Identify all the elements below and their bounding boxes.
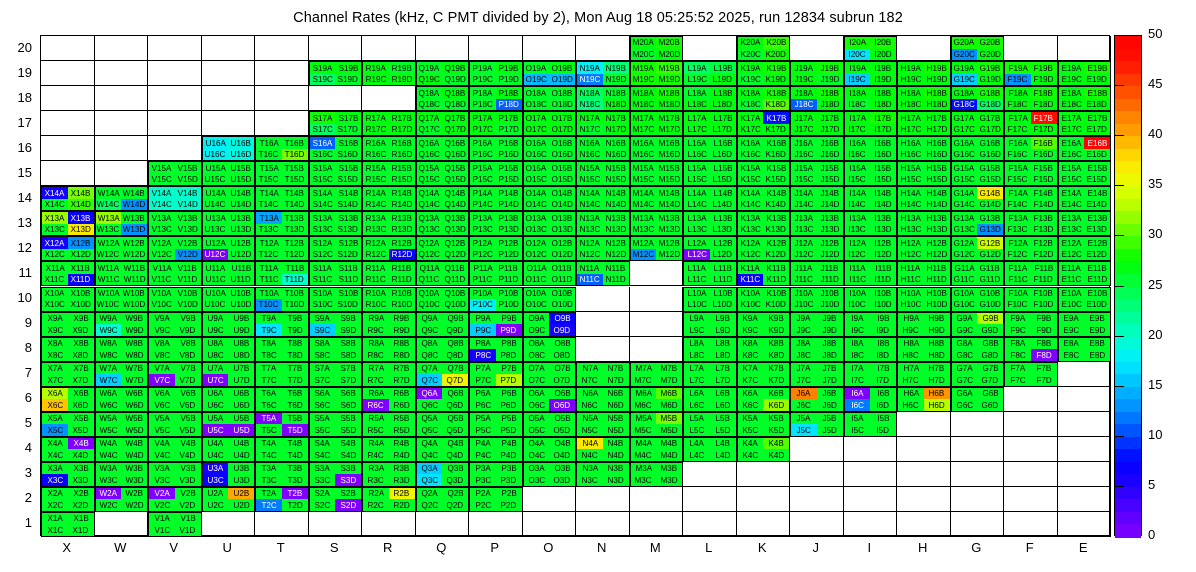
channel-label: K13C — [740, 225, 760, 234]
module-cell: R17AR17BR17CR17D — [362, 111, 416, 136]
channel-cell: G9D — [977, 324, 1003, 336]
channel-label: W11C — [97, 275, 119, 284]
module-cell: R16AR16BR16CR16D — [362, 136, 416, 161]
channel-cell: N12C — [577, 249, 603, 261]
channel-label: Q5C — [421, 426, 438, 435]
channel-cell: K6B — [763, 388, 789, 400]
module-cell: O15AO15BO15CO15D — [523, 161, 577, 186]
channel-cell: E14B — [1084, 187, 1110, 199]
channel-cell: O18D — [549, 99, 575, 111]
channel-label: X1A — [47, 514, 62, 523]
channel-cell: X7B — [68, 363, 94, 375]
page-title: Channel Rates (kHz, C PMT divided by 2),… — [0, 10, 1196, 26]
channel-label: N14B — [606, 189, 626, 198]
module-cell: L11AL11BL11CL11D — [683, 261, 737, 286]
channel-cell: O17C — [524, 124, 550, 136]
channel-cell: S16A — [310, 137, 336, 149]
channel-cell: F14B — [1031, 187, 1057, 199]
channel-label: P12C — [473, 250, 493, 259]
channel-label: W3C — [99, 476, 117, 485]
module-cell: G17AG17BG17CG17D — [951, 111, 1005, 136]
channel-label: H12B — [927, 239, 947, 248]
channel-cell: P12B — [496, 237, 522, 249]
channel-cell: K4D — [763, 449, 789, 461]
channel-label: T15C — [259, 175, 279, 184]
channel-label: S5B — [340, 414, 355, 423]
channel-cell: U15B — [228, 162, 254, 174]
channel-cell: P3B — [496, 463, 522, 475]
channel-cell: V2B — [175, 488, 201, 500]
channel-label: X10A — [45, 289, 65, 298]
channel-cell: K15B — [763, 162, 789, 174]
channel-cell: M6D — [656, 399, 682, 411]
module-cell — [1058, 36, 1112, 61]
channel-cell: P15C — [470, 174, 496, 186]
channel-label: E16B — [1087, 139, 1107, 148]
channel-label: R7C — [368, 376, 384, 385]
channel-label: M12A — [633, 239, 654, 248]
channel-label: U10B — [231, 289, 251, 298]
channel-label: G11D — [980, 275, 1001, 284]
channel-label: H18D — [926, 100, 947, 109]
channel-label: O12C — [526, 250, 547, 259]
module-cell: M3AM3BM3CM3D — [630, 462, 684, 487]
channel-label: F11D — [1034, 275, 1053, 284]
channel-label: I18A — [849, 89, 866, 98]
channel-label: E12C — [1061, 250, 1081, 259]
channel-cell: L15B — [710, 162, 736, 174]
channel-cell: R10D — [389, 299, 415, 311]
channel-cell: U11C — [203, 274, 229, 286]
module-cell — [951, 437, 1005, 462]
channel-label: G11B — [980, 264, 1000, 273]
channel-cell: N18D — [603, 99, 629, 111]
channel-cell: T15C — [256, 174, 282, 186]
channel-label: M6B — [661, 389, 678, 398]
channel-label: M4D — [661, 451, 678, 460]
channel-label: G20B — [980, 38, 1001, 47]
channel-cell: M20B — [656, 37, 682, 49]
channel-label: P14B — [499, 189, 519, 198]
channel-label: X8B — [73, 339, 88, 348]
channel-label: N19B — [606, 64, 626, 73]
channel-label: I10D — [875, 300, 892, 309]
channel-label: I5C — [851, 426, 864, 435]
channel-cell: E19D — [1084, 74, 1110, 86]
module-cell: L18AL18BL18CL18D — [683, 86, 737, 111]
channel-label: X1C — [47, 526, 63, 535]
channel-label: Q12B — [445, 239, 466, 248]
channel-label: U15D — [231, 175, 252, 184]
channel-cell: Q12C — [417, 249, 443, 261]
channel-label: X12B — [71, 239, 91, 248]
channel-label: S4C — [315, 451, 331, 460]
channel-label: X3D — [73, 476, 89, 485]
channel-cell: M20A — [631, 37, 657, 49]
channel-label: X8C — [47, 351, 63, 360]
channel-label: J15B — [820, 164, 838, 173]
channel-label: M16C — [633, 150, 655, 159]
channel-label: L16A — [687, 139, 706, 148]
channel-cell: R4D — [389, 449, 415, 461]
channel-label: O12D — [552, 250, 573, 259]
channel-cell: P6A — [470, 388, 496, 400]
colorbar-segment — [1115, 299, 1141, 312]
channel-label: N18D — [605, 100, 626, 109]
channel-cell: G6C — [952, 399, 978, 411]
module-cell: T13AT13BT13CT13D — [255, 211, 309, 236]
channel-label: G19A — [954, 64, 975, 73]
channel-label: R3A — [368, 464, 384, 473]
colorbar-segment — [1115, 449, 1141, 462]
channel-label: X11C — [45, 275, 65, 284]
y-axis-tick: 13 — [0, 215, 32, 230]
channel-cell: I8A — [845, 338, 871, 350]
channel-cell: S14B — [335, 187, 361, 199]
channel-cell: O17B — [549, 112, 575, 124]
channel-cell: V8D — [175, 349, 201, 361]
channel-cell: O17D — [549, 124, 575, 136]
module-cell: U16AU16BU16CU16D — [202, 136, 256, 161]
module-cell: T8AT8BT8CT8D — [255, 337, 309, 362]
channel-cell: T8A — [256, 338, 282, 350]
channel-cell: Q16A — [417, 137, 443, 149]
channel-label: O6A — [528, 389, 544, 398]
channel-label: W9B — [125, 314, 143, 323]
module-cell: S2AS2BS2CS2D — [309, 487, 363, 512]
channel-cell: U13D — [228, 224, 254, 236]
channel-label: Q9C — [421, 326, 438, 335]
channel-label: N4D — [608, 451, 624, 460]
channel-cell: X12D — [68, 249, 94, 261]
channel-cell: V1C — [149, 524, 175, 536]
channel-cell: K8B — [763, 338, 789, 350]
channel-label: S17B — [338, 114, 358, 123]
channel-cell: P5B — [496, 413, 522, 425]
channel-label: J16C — [794, 150, 813, 159]
channel-cell: Q15D — [442, 174, 468, 186]
channel-cell: H6D — [924, 399, 950, 411]
channel-cell: X4B — [68, 438, 94, 450]
channel-cell: K8D — [763, 349, 789, 361]
channel-cell: E8C — [1059, 349, 1085, 361]
channel-label: M13D — [658, 225, 680, 234]
channel-cell: M15B — [656, 162, 682, 174]
channel-cell: M3A — [631, 463, 657, 475]
channel-cell: K19A — [738, 62, 764, 74]
channel-cell: P7B — [496, 363, 522, 375]
channel-label: X11A — [45, 264, 64, 273]
channel-label: I5A — [851, 414, 863, 423]
channel-cell: V10B — [175, 288, 201, 300]
channel-label: P16B — [499, 139, 519, 148]
channel-label: H6C — [903, 401, 919, 410]
channel-cell: R17D — [389, 124, 415, 136]
channel-cell: V1D — [175, 524, 201, 536]
channel-cell: O6C — [524, 399, 550, 411]
colorbar-segment — [1115, 236, 1141, 249]
channel-cell: J7D — [817, 374, 843, 386]
channel-cell: G20D — [977, 49, 1003, 61]
module-cell — [576, 312, 630, 337]
channel-label: P11A — [473, 264, 492, 273]
channel-cell: V14D — [175, 199, 201, 211]
channel-cell: H16B — [924, 137, 950, 149]
channel-label: G19B — [980, 64, 1001, 73]
channel-cell: P6D — [496, 399, 522, 411]
module-cell: F17AF17BF17CF17D — [1004, 111, 1058, 136]
channel-label: Q12D — [445, 250, 466, 259]
channel-label: F11B — [1034, 264, 1053, 273]
module-cell — [897, 512, 951, 537]
channel-label: G13A — [954, 214, 975, 223]
channel-label: S9D — [340, 326, 356, 335]
channel-cell: W4A — [96, 438, 122, 450]
channel-cell: T10A — [256, 288, 282, 300]
channel-cell: O4B — [549, 438, 575, 450]
module-cell: S9AS9BS9CS9D — [309, 312, 363, 337]
channel-label: P11C — [473, 275, 493, 284]
channel-label: L16C — [687, 150, 706, 159]
channel-cell: V13B — [175, 212, 201, 224]
channel-cell: J12A — [791, 237, 817, 249]
channel-label: P15A — [473, 164, 493, 173]
channel-label: P8C — [475, 351, 491, 360]
channel-label: T2A — [261, 489, 276, 498]
channel-label: I10A — [849, 289, 866, 298]
channel-label: K19C — [740, 75, 760, 84]
channel-cell: H11A — [898, 262, 924, 274]
channel-cell: K11A — [738, 262, 764, 274]
channel-label: F9B — [1036, 314, 1051, 323]
channel-cell: K5B — [763, 413, 789, 425]
module-cell: K6AK6BK6CK6D — [737, 387, 791, 412]
channel-label: U6C — [207, 401, 223, 410]
channel-cell: R6B — [389, 388, 415, 400]
module-cell: R3AR3BR3CR3D — [362, 462, 416, 487]
module-cell: Q5AQ5BQ5CQ5D — [416, 412, 470, 437]
module-cell: G19AG19BG19CG19D — [951, 61, 1005, 86]
channel-cell: P14D — [496, 199, 522, 211]
channel-label: S11D — [338, 275, 358, 284]
channel-label: E15D — [1087, 175, 1107, 184]
module-cell: F18AF18BF18CF18D — [1004, 86, 1058, 111]
channel-cell: P11C — [470, 274, 496, 286]
channel-label: T7D — [287, 376, 302, 385]
channel-cell: I13D — [870, 224, 896, 236]
channel-label: F12A — [1008, 239, 1027, 248]
channel-label: J11D — [820, 275, 838, 284]
channel-cell: L8C — [684, 349, 710, 361]
channel-cell: F17B — [1031, 112, 1057, 124]
module-cell: L19AL19BL19CL19D — [683, 61, 737, 86]
channel-label: G17A — [954, 114, 975, 123]
channel-label: G15C — [954, 175, 975, 184]
channel-label: E19C — [1061, 75, 1081, 84]
channel-label: N16A — [580, 139, 600, 148]
channel-cell: G15A — [952, 162, 978, 174]
channel-label: H16C — [901, 150, 922, 159]
channel-cell: V14C — [149, 199, 175, 211]
channel-cell: G10B — [977, 288, 1003, 300]
module-cell — [576, 487, 630, 512]
channel-cell: O11B — [549, 262, 575, 274]
colorbar-segment — [1115, 312, 1141, 325]
channel-cell: H15A — [898, 162, 924, 174]
channel-label: Q17B — [445, 114, 466, 123]
channel-cell: R15B — [389, 162, 415, 174]
channel-cell: M13B — [656, 212, 682, 224]
channel-label: V3D — [180, 476, 196, 485]
colorbar-segment — [1115, 362, 1141, 375]
y-axis-tick: 20 — [0, 40, 32, 55]
channel-cell: W11B — [121, 262, 147, 274]
channel-cell: E16C — [1059, 149, 1085, 161]
channel-label: F12D — [1034, 250, 1054, 259]
channel-cell: F7D — [1031, 374, 1057, 386]
channel-label: G10C — [954, 300, 975, 309]
channel-cell: F9B — [1031, 313, 1057, 325]
channel-cell: O7D — [549, 374, 575, 386]
channel-label: U3D — [233, 476, 249, 485]
channel-label: S12D — [338, 250, 358, 259]
channel-label: K7A — [743, 364, 758, 373]
channel-cell: R4B — [389, 438, 415, 450]
channel-cell: U6C — [203, 399, 229, 411]
channel-label: X6A — [47, 389, 62, 398]
channel-cell: R4A — [363, 438, 389, 450]
channel-cell: N14D — [603, 199, 629, 211]
channel-cell: X4D — [68, 449, 94, 461]
channel-label: U13A — [205, 214, 225, 223]
channel-label: W5B — [125, 414, 143, 423]
channel-cell: W12C — [96, 249, 122, 261]
channel-cell: P10D — [496, 299, 522, 311]
channel-cell: W14B — [121, 187, 147, 199]
channel-label: P3B — [501, 464, 516, 473]
channel-cell: E18A — [1059, 87, 1085, 99]
channel-label: W12B — [123, 239, 145, 248]
x-axis-tick: P — [468, 540, 522, 555]
channel-label: K18C — [740, 100, 760, 109]
channel-label: Q18B — [445, 89, 466, 98]
channel-cell: U4D — [228, 449, 254, 461]
channel-label: W8D — [125, 351, 143, 360]
channel-cell: R15A — [363, 162, 389, 174]
channel-cell: K13D — [763, 224, 789, 236]
channel-label: N11A — [580, 264, 600, 273]
channel-cell: H14C — [898, 199, 924, 211]
channel-cell: G20C — [952, 49, 978, 61]
module-cell: T7AT7BT7CT7D — [255, 362, 309, 387]
channel-cell: J5D — [817, 424, 843, 436]
channel-cell: K19C — [738, 74, 764, 86]
channel-cell: O13A — [524, 212, 550, 224]
channel-cell: K17A — [738, 112, 764, 124]
channel-cell: J15B — [817, 162, 843, 174]
channel-label: V11D — [178, 275, 198, 284]
channel-cell: I6B — [870, 388, 896, 400]
channel-cell: F16A — [1005, 137, 1031, 149]
channel-cell: I9D — [870, 324, 896, 336]
channel-cell: T4A — [256, 438, 282, 450]
channel-cell: U5A — [203, 413, 229, 425]
channel-label: R7D — [394, 376, 410, 385]
channel-cell: J9C — [791, 324, 817, 336]
channel-cell: T9B — [282, 313, 308, 325]
channel-cell: I6A — [845, 388, 871, 400]
channel-label: O6C — [528, 401, 545, 410]
channel-label: R19A — [366, 64, 386, 73]
module-cell: L12AL12BL12CL12D — [683, 236, 737, 261]
channel-cell: I8C — [845, 349, 871, 361]
channel-cell: O11D — [549, 274, 575, 286]
channel-cell: R12A — [363, 237, 389, 249]
channel-label: M3D — [661, 476, 678, 485]
channel-cell: E17A — [1059, 112, 1085, 124]
channel-cell: I15A — [845, 162, 871, 174]
channel-label: J10B — [820, 289, 838, 298]
channel-label: G7B — [982, 364, 998, 373]
channel-cell: R2A — [363, 488, 389, 500]
channel-cell: J9A — [791, 313, 817, 325]
channel-label: I16B — [875, 139, 892, 148]
channel-label: K11C — [741, 275, 761, 284]
channel-cell: S3B — [335, 463, 361, 475]
channel-label: X3A — [47, 464, 62, 473]
channel-cell: K10B — [763, 288, 789, 300]
channel-cell: U14D — [228, 199, 254, 211]
channel-label: P6B — [501, 389, 516, 398]
channel-label: N7C — [582, 376, 598, 385]
channel-label: T7B — [287, 364, 302, 373]
channel-cell: L5C — [684, 424, 710, 436]
module-cell — [523, 512, 577, 537]
channel-label: O13D — [552, 225, 573, 234]
module-cell: O10AO10BO10CO10D — [523, 287, 577, 312]
channel-label: K18B — [766, 89, 786, 98]
channel-cell: N16A — [577, 137, 603, 149]
channel-label: Q15A — [419, 164, 440, 173]
channel-label: H13A — [901, 214, 921, 223]
channel-cell: V6D — [175, 399, 201, 411]
module-cell: J13AJ13BJ13CJ13D — [790, 211, 844, 236]
channel-label: U3A — [208, 464, 224, 473]
channel-cell: S19A — [310, 62, 336, 74]
channel-cell: N3D — [603, 474, 629, 486]
channel-label: Q17D — [445, 125, 466, 134]
channel-label: M18C — [633, 100, 655, 109]
channel-cell: R8D — [389, 349, 415, 361]
channel-cell: H10C — [898, 299, 924, 311]
module-cell: Q17AQ17BQ17CQ17D — [416, 111, 470, 136]
channel-label: G14A — [954, 189, 975, 198]
channel-label: P4A — [475, 439, 490, 448]
channel-cell: X14C — [42, 199, 68, 211]
module-cell — [1004, 512, 1058, 537]
channel-label: S4D — [340, 451, 356, 460]
module-cell — [1004, 487, 1058, 512]
channel-label: O8A — [528, 339, 544, 348]
channel-label: U4D — [233, 451, 249, 460]
channel-label: J17B — [820, 114, 838, 123]
channel-cell: U9A — [203, 313, 229, 325]
channel-cell: K14B — [763, 187, 789, 199]
channel-cell: W9D — [121, 324, 147, 336]
channel-label: P9A — [475, 314, 490, 323]
channel-cell: X14B — [68, 187, 94, 199]
channel-label: O19B — [552, 64, 573, 73]
